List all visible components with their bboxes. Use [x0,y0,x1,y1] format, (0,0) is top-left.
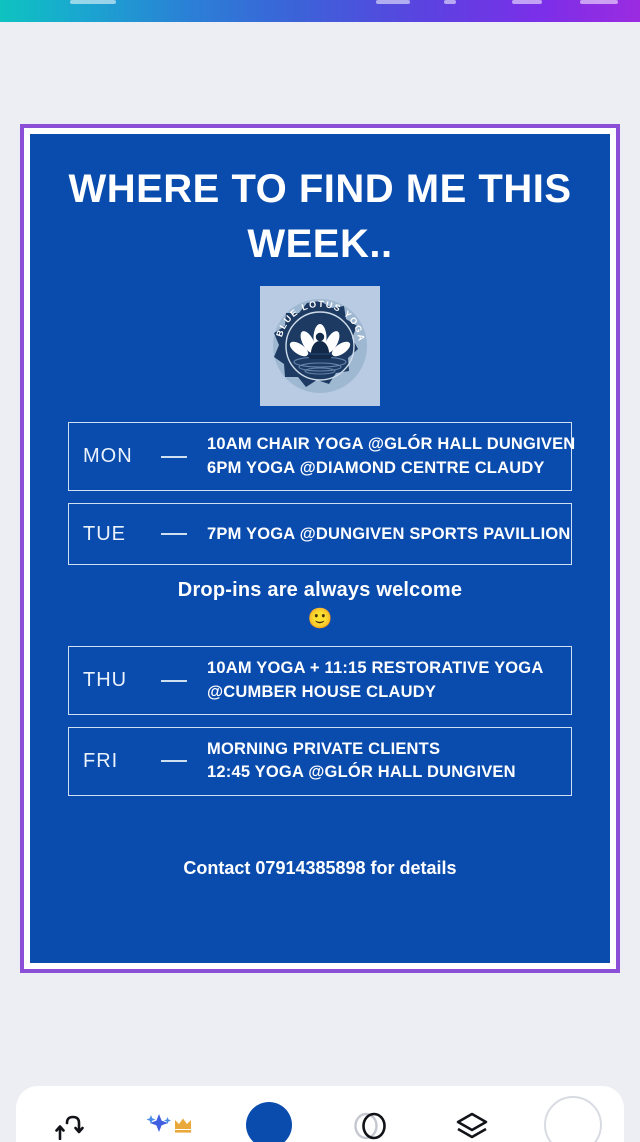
layers-icon[interactable] [421,1086,522,1142]
schedule-line: @CUMBER HOUSE CLAUDY [207,681,557,704]
flip-icon[interactable] [16,1086,117,1142]
app-header-strip [0,0,640,22]
redo-icon[interactable] [444,0,456,4]
shape-circle-icon[interactable] [523,1086,624,1142]
schedule-group-top: MON 10AM CHAIR YOGA @GLÓR HALL DUNGIVEN … [68,422,572,565]
color-swatch[interactable] [219,1086,320,1142]
dash-separator [161,680,207,682]
table-row: THU 10AM YOGA + 11:15 RESTORATIVE YOGA @… [68,646,572,715]
more-icon[interactable] [580,0,618,4]
schedule-group-bottom: THU 10AM YOGA + 11:15 RESTORATIVE YOGA @… [68,646,572,796]
schedule-line: 7PM YOGA @DUNGIVEN SPORTS PAVILLION [207,523,571,546]
schedule-line: 10AM YOGA + 11:15 RESTORATIVE YOGA [207,657,557,680]
table-row: TUE 7PM YOGA @DUNGIVEN SPORTS PAVILLION [68,503,572,565]
table-row: FRI MORNING PRIVATE CLIENTS 12:45 YOGA @… [68,727,572,796]
day-label: THU [83,669,161,692]
editor-canvas[interactable]: WHERE TO FIND ME THIS WEEK.. [0,22,640,1080]
schedule-line: 10AM CHAIR YOGA @GLÓR HALL DUNGIVEN [207,433,575,456]
poster-design[interactable]: WHERE TO FIND ME THIS WEEK.. [30,134,610,963]
schedule-line: 12:45 YOGA @GLÓR HALL DUNGIVEN [207,761,557,784]
schedule-entries: 10AM YOGA + 11:15 RESTORATIVE YOGA @CUMB… [207,657,557,704]
schedule-line: 6PM YOGA @DIAMOND CENTRE CLAUDY [207,457,575,480]
opacity-icon[interactable] [320,1086,421,1142]
menu-icon[interactable] [70,0,116,4]
toolbar-sheet [16,1086,624,1142]
bottom-toolbar [0,1080,640,1136]
schedule-entries: 10AM CHAIR YOGA @GLÓR HALL DUNGIVEN 6PM … [207,433,575,480]
schedule-entries: 7PM YOGA @DUNGIVEN SPORTS PAVILLION [207,523,571,546]
dropins-text: Drop-ins are always welcome [68,579,572,602]
dash-separator [161,456,207,458]
day-label: TUE [83,523,161,546]
blue-lotus-yoga-logo: BLUE LOTUS YOGA [260,286,380,406]
download-icon[interactable] [512,0,542,4]
selected-element-frame[interactable]: WHERE TO FIND ME THIS WEEK.. [20,124,620,973]
table-row: MON 10AM CHAIR YOGA @GLÓR HALL DUNGIVEN … [68,422,572,491]
dropins-note: Drop-ins are always welcome 🙂 [68,579,572,634]
schedule-line: MORNING PRIVATE CLIENTS [207,738,557,761]
day-label: FRI [83,750,161,773]
page-title: WHERE TO FIND ME THIS WEEK.. [68,134,572,272]
day-label: MON [83,445,161,468]
dash-separator [161,533,207,535]
ai-sparkles-premium-icon[interactable] [117,1086,218,1142]
smiley-emoji-icon: 🙂 [68,604,572,634]
contact-text: Contact 07914385898 for details [68,858,572,879]
dash-separator [161,760,207,762]
schedule-entries: MORNING PRIVATE CLIENTS 12:45 YOGA @GLÓR… [207,738,557,785]
undo-icon[interactable] [376,0,410,4]
